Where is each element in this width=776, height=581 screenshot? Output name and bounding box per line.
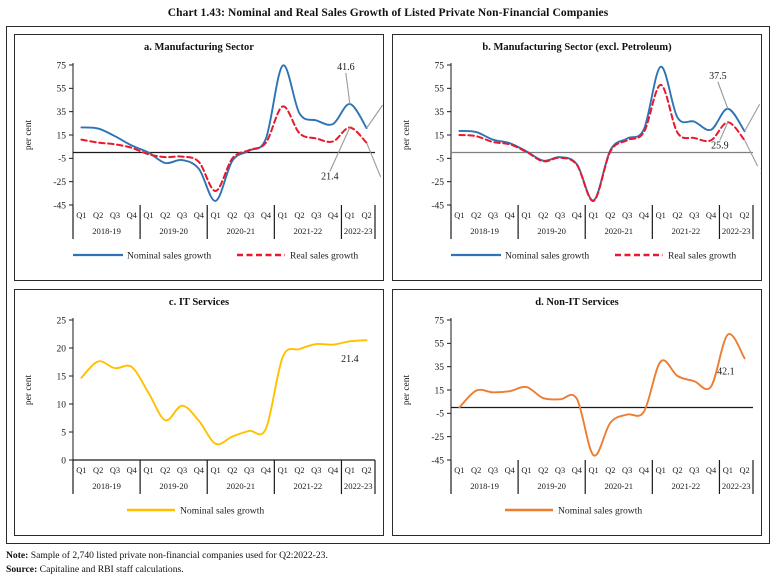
panel-a-title: a. Manufacturing Sector: [15, 35, 383, 53]
panel-c-title: c. IT Services: [15, 290, 383, 308]
x-tick-label: Q2: [471, 466, 481, 475]
svg-text:per cent: per cent: [402, 374, 412, 405]
x-tick-label: Q4: [261, 466, 272, 475]
x-tick-label: Q4: [328, 211, 339, 220]
x-group-label: 2022-23: [344, 481, 373, 491]
x-tick-label: Q1: [278, 466, 288, 475]
panel-b: b. Manufacturing Sector (excl. Petroleum…: [392, 34, 762, 281]
svg-text:per cent: per cent: [24, 374, 34, 405]
x-tick-label: Q4: [572, 466, 583, 475]
x-tick-label: Q4: [127, 211, 138, 220]
x-tick-label: Q3: [177, 466, 187, 475]
x-tick-label: Q4: [572, 211, 583, 220]
x-group-label: 2020-21: [226, 481, 255, 491]
legend-label-nominal: Nominal sales growth: [558, 506, 642, 517]
x-tick-label: Q2: [294, 211, 304, 220]
svg-text:-45: -45: [431, 201, 444, 211]
data-label: 8.3: [383, 177, 384, 188]
x-tick-label: Q3: [244, 211, 254, 220]
panel-a-plot: -45-25-515355575per centQ1Q2Q3Q4Q1Q2Q3Q4…: [15, 53, 384, 281]
x-tick-label: Q2: [605, 211, 615, 220]
data-label: 10.6: [760, 166, 762, 177]
source-label: Source:: [6, 564, 37, 575]
x-group-label: 2020-21: [604, 226, 633, 236]
annotation-leader: [718, 82, 728, 109]
x-tick-label: Q2: [93, 211, 103, 220]
svg-text:15: 15: [57, 372, 67, 382]
data-label: 25.9: [711, 140, 729, 151]
svg-text:15: 15: [435, 386, 445, 396]
legend-label-nominal: Nominal sales growth: [180, 506, 264, 517]
x-tick-label: Q3: [488, 211, 498, 220]
series-line: [459, 334, 744, 456]
x-tick-label: Q1: [656, 466, 666, 475]
x-tick-label: Q4: [194, 211, 205, 220]
page-title: Chart 1.43: Nominal and Real Sales Growt…: [0, 0, 776, 25]
x-tick-label: Q1: [521, 466, 531, 475]
annotation-leader: [367, 143, 381, 177]
x-group-label: 2020-21: [226, 226, 255, 236]
x-tick-label: Q1: [143, 211, 153, 220]
x-tick-label: Q1: [345, 466, 355, 475]
x-tick-label: Q2: [538, 211, 548, 220]
x-group-label: 2019-20: [159, 226, 188, 236]
panel-b-title: b. Manufacturing Sector (excl. Petroleum…: [393, 35, 761, 53]
x-tick-label: Q2: [227, 211, 237, 220]
panel-grid: a. Manufacturing Sector -45-25-515355575…: [6, 26, 770, 544]
svg-text:0: 0: [61, 456, 66, 466]
svg-text:-25: -25: [431, 178, 444, 188]
x-tick-label: Q2: [739, 211, 749, 220]
svg-text:-5: -5: [58, 155, 66, 165]
legend-label-real: Real sales growth: [668, 251, 736, 262]
x-tick-label: Q2: [672, 466, 682, 475]
x-tick-label: Q1: [210, 211, 220, 220]
x-group-label: 2019-20: [159, 481, 188, 491]
series-line: [459, 85, 744, 201]
x-group-label: 2021-22: [672, 226, 701, 236]
x-tick-label: Q2: [739, 466, 749, 475]
series-line: [81, 340, 366, 444]
x-tick-label: Q2: [605, 466, 615, 475]
x-tick-label: Q1: [723, 211, 733, 220]
x-group-label: 2020-21: [604, 481, 633, 491]
x-tick-label: Q4: [706, 211, 717, 220]
svg-text:15: 15: [57, 131, 67, 141]
x-tick-label: Q4: [505, 466, 516, 475]
svg-text:5: 5: [61, 428, 66, 438]
svg-text:-25: -25: [431, 433, 444, 443]
x-tick-label: Q2: [160, 211, 170, 220]
x-tick-label: Q1: [76, 466, 86, 475]
svg-text:55: 55: [435, 340, 445, 350]
x-tick-label: Q4: [505, 211, 516, 220]
x-tick-label: Q4: [127, 466, 138, 475]
x-tick-label: Q2: [471, 211, 481, 220]
svg-text:25: 25: [57, 316, 67, 326]
x-tick-label: Q4: [706, 466, 717, 475]
svg-text:55: 55: [435, 85, 445, 95]
svg-text:55: 55: [57, 85, 67, 95]
x-tick-label: Q4: [639, 466, 650, 475]
x-tick-label: Q4: [639, 211, 650, 220]
annotation-leader: [367, 105, 383, 128]
svg-text:-45: -45: [431, 456, 444, 466]
x-group-label: 2018-19: [92, 226, 121, 236]
data-label: 21.4: [341, 354, 359, 365]
x-group-label: 2019-20: [537, 481, 566, 491]
x-tick-label: Q2: [227, 466, 237, 475]
panel-d-plot: -45-25-515355575per centQ1Q2Q3Q4Q1Q2Q3Q4…: [393, 308, 762, 536]
note-text: Sample of 2,740 listed private non-finan…: [28, 550, 327, 561]
x-tick-label: Q1: [278, 211, 288, 220]
legend-label-nominal: Nominal sales growth: [505, 251, 589, 262]
x-group-label: 2021-22: [672, 481, 701, 491]
x-tick-label: Q1: [723, 466, 733, 475]
x-tick-label: Q3: [110, 466, 120, 475]
x-tick-label: Q1: [143, 466, 153, 475]
x-tick-label: Q2: [672, 211, 682, 220]
annotation-leader: [330, 128, 350, 172]
svg-text:35: 35: [435, 108, 445, 118]
x-tick-label: Q1: [588, 466, 598, 475]
x-group-label: 2022-23: [722, 481, 751, 491]
x-tick-label: Q3: [244, 466, 254, 475]
x-tick-label: Q1: [210, 466, 220, 475]
svg-text:per cent: per cent: [402, 119, 412, 150]
x-tick-label: Q3: [689, 211, 699, 220]
x-tick-label: Q1: [656, 211, 666, 220]
svg-text:35: 35: [435, 363, 445, 373]
legend-label-real: Real sales growth: [290, 251, 358, 262]
x-group-label: 2021-22: [294, 226, 323, 236]
svg-text:20: 20: [57, 344, 67, 354]
svg-text:-5: -5: [436, 155, 444, 165]
svg-text:-45: -45: [53, 201, 66, 211]
x-tick-label: Q1: [588, 211, 598, 220]
x-tick-label: Q3: [177, 211, 187, 220]
source-line: Source: Capitaline and RBI staff calcula…: [6, 563, 746, 577]
x-group-label: 2022-23: [722, 226, 751, 236]
data-label: 41.6: [337, 62, 355, 73]
x-tick-label: Q3: [555, 466, 565, 475]
x-tick-label: Q3: [311, 211, 321, 220]
svg-text:-25: -25: [53, 178, 66, 188]
x-tick-label: Q1: [345, 211, 355, 220]
chart-page: Chart 1.43: Nominal and Real Sales Growt…: [0, 0, 776, 581]
x-group-label: 2022-23: [344, 226, 373, 236]
x-tick-label: Q2: [361, 211, 371, 220]
data-label: 37.5: [709, 71, 727, 82]
panel-d: d. Non-IT Services -45-25-515355575per c…: [392, 289, 762, 536]
x-tick-label: Q1: [76, 211, 86, 220]
x-group-label: 2018-19: [470, 226, 499, 236]
x-tick-label: Q2: [93, 466, 103, 475]
panel-d-title: d. Non-IT Services: [393, 290, 761, 308]
data-label: 21.4: [321, 172, 339, 183]
x-group-label: 2018-19: [92, 481, 121, 491]
legend-label-nominal: Nominal sales growth: [127, 251, 211, 262]
svg-text:-5: -5: [436, 410, 444, 420]
x-tick-label: Q4: [194, 466, 205, 475]
panel-c: c. IT Services 0510152025per centQ1Q2Q3Q…: [14, 289, 384, 536]
x-tick-label: Q3: [622, 466, 632, 475]
x-tick-label: Q1: [454, 466, 464, 475]
note-line: Note: Sample of 2,740 listed private non…: [6, 549, 746, 563]
x-tick-label: Q4: [328, 466, 339, 475]
x-tick-label: Q3: [110, 211, 120, 220]
source-text: Capitaline and RBI staff calculations.: [37, 564, 183, 575]
x-tick-label: Q2: [294, 466, 304, 475]
note-label: Note:: [6, 550, 28, 561]
x-tick-label: Q2: [538, 466, 548, 475]
svg-text:75: 75: [435, 61, 445, 71]
svg-text:10: 10: [57, 400, 67, 410]
svg-text:75: 75: [57, 61, 67, 71]
x-tick-label: Q3: [689, 466, 699, 475]
footer-notes: Note: Sample of 2,740 listed private non…: [6, 549, 746, 576]
x-tick-label: Q1: [521, 211, 531, 220]
x-tick-label: Q1: [454, 211, 464, 220]
svg-text:75: 75: [435, 316, 445, 326]
x-tick-label: Q3: [555, 211, 565, 220]
annotation-leader: [745, 104, 760, 131]
annotation-leader: [346, 73, 350, 104]
x-tick-label: Q2: [160, 466, 170, 475]
x-tick-label: Q3: [488, 466, 498, 475]
svg-text:15: 15: [435, 131, 445, 141]
x-tick-label: Q3: [622, 211, 632, 220]
x-group-label: 2021-22: [294, 481, 323, 491]
svg-text:per cent: per cent: [24, 119, 34, 150]
x-group-label: 2019-20: [537, 226, 566, 236]
x-tick-label: Q2: [361, 466, 371, 475]
panel-a: a. Manufacturing Sector -45-25-515355575…: [14, 34, 384, 281]
x-tick-label: Q3: [311, 466, 321, 475]
panel-c-plot: 0510152025per centQ1Q2Q3Q4Q1Q2Q3Q4Q1Q2Q3…: [15, 308, 384, 536]
data-label: 42.1: [717, 366, 735, 377]
panel-b-plot: -45-25-515355575per centQ1Q2Q3Q4Q1Q2Q3Q4…: [393, 53, 762, 281]
x-group-label: 2018-19: [470, 481, 499, 491]
annotation-leader: [745, 140, 758, 166]
svg-text:35: 35: [57, 108, 67, 118]
x-tick-label: Q4: [261, 211, 272, 220]
